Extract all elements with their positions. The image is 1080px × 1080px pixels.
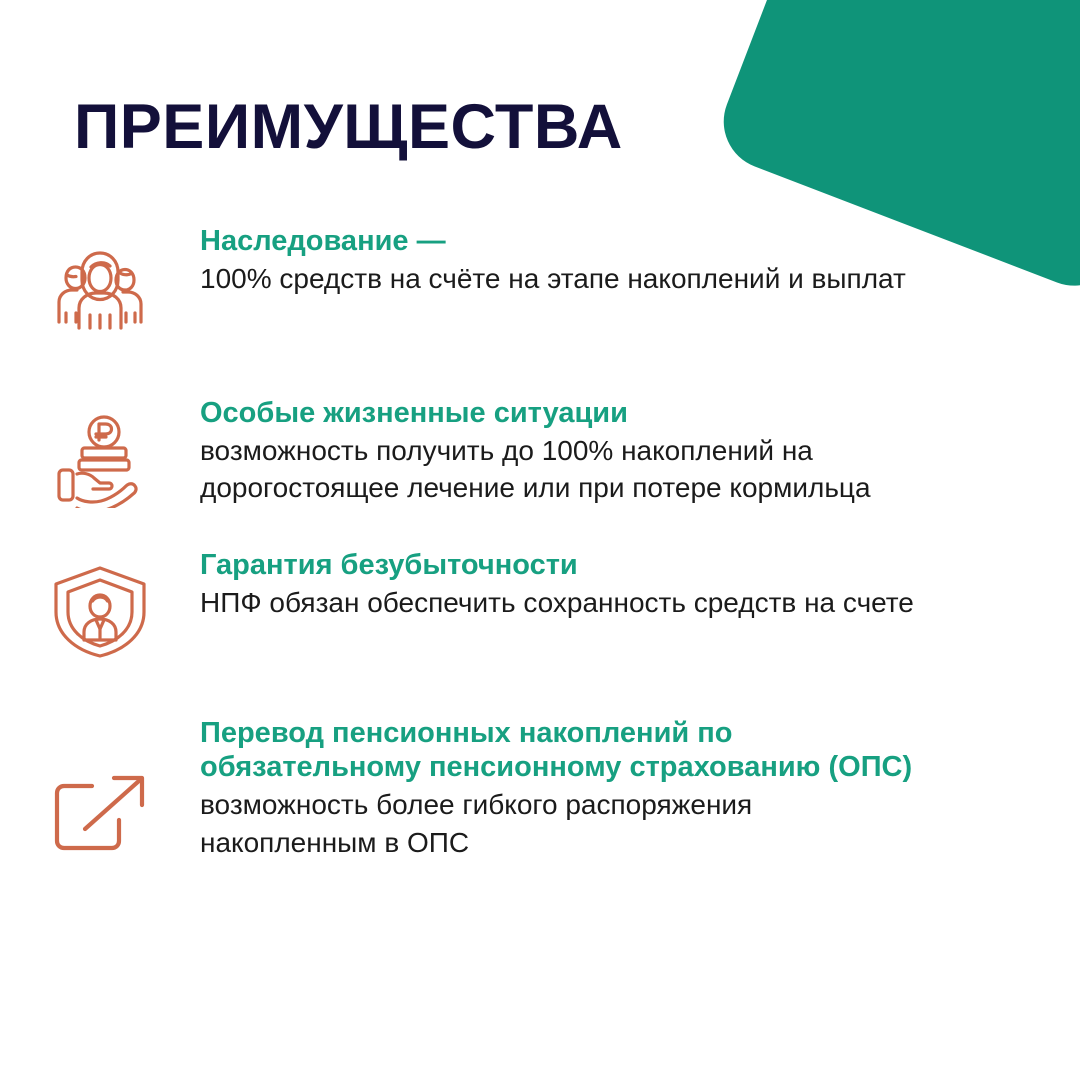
benefit-body: возможность получить до 100% накоплений … bbox=[200, 432, 930, 506]
benefit-item-inheritance: Наследование — 100% средств на счёте на … bbox=[0, 222, 1080, 332]
slide-canvas: ПРЕИМУЩЕСТВА bbox=[0, 0, 1080, 1080]
hand-with-ruble-coins-icon bbox=[0, 394, 200, 508]
shield-with-person-icon bbox=[0, 546, 200, 662]
benefit-text-inheritance: Наследование — 100% средств на счёте на … bbox=[200, 222, 1080, 297]
benefit-text-special-life-situations: Особые жизненные ситуации возможность по… bbox=[200, 394, 1080, 507]
benefit-item-special-life-situations: Особые жизненные ситуации возможность по… bbox=[0, 394, 1080, 508]
benefit-text-breakeven-guarantee: Гарантия безубыточности НПФ обязан обесп… bbox=[200, 546, 1080, 621]
benefit-heading: Гарантия безубыточности bbox=[200, 548, 930, 582]
benefit-item-ops-transfer: Перевод пенсионных накоплений по обязате… bbox=[0, 714, 1080, 868]
share-export-arrow-icon bbox=[0, 714, 200, 868]
family-group-icon bbox=[0, 222, 200, 332]
page-title: ПРЕИМУЩЕСТВА bbox=[74, 94, 623, 160]
benefit-body: возможность более гибкого распоряжения н… bbox=[200, 786, 930, 860]
benefit-heading: Наследование — bbox=[200, 224, 930, 258]
benefits-list: Наследование — 100% средств на счёте на … bbox=[0, 222, 1080, 868]
benefit-text-ops-transfer: Перевод пенсионных накоплений по обязате… bbox=[200, 714, 1080, 861]
benefit-body: 100% средств на счёте на этапе накоплени… bbox=[200, 260, 930, 297]
benefit-item-breakeven-guarantee: Гарантия безубыточности НПФ обязан обесп… bbox=[0, 546, 1080, 662]
benefit-heading: Перевод пенсионных накоплений по обязате… bbox=[200, 716, 930, 784]
benefit-body: НПФ обязан обеспечить сохранность средст… bbox=[200, 584, 930, 621]
benefit-heading: Особые жизненные ситуации bbox=[200, 396, 930, 430]
